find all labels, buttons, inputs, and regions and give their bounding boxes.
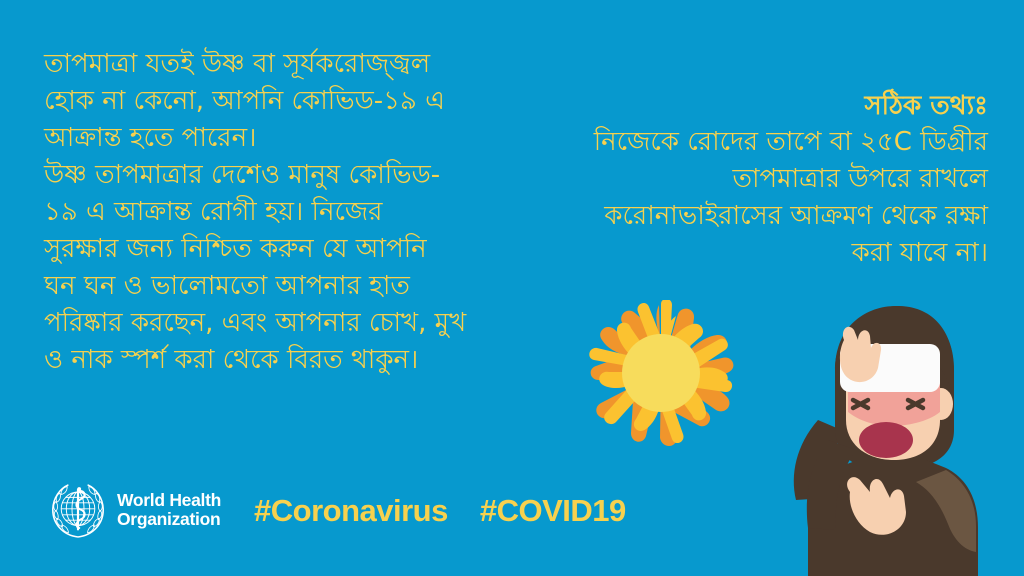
myth-body-text: তাপমাত্রা যতই উষ্ণ বা সূর্যকরোজ্জ্বল হোক… xyxy=(44,46,514,379)
sun-illustration xyxy=(586,300,736,450)
poster-canvas: তাপমাত্রা যতই উষ্ণ বা সূর্যকরোজ্জ্বল হোক… xyxy=(0,0,1024,576)
hashtag-coronavirus: #Coronavirus xyxy=(254,494,448,528)
who-wordmark: World Health Organization xyxy=(117,491,221,529)
who-wordmark-line1: World Health xyxy=(117,491,221,510)
who-emblem-icon xyxy=(48,480,108,540)
fact-body-text: নিজেকে রোদের তাপে বা ২৫C ডিগ্রীর তাপমাত্… xyxy=(518,124,988,272)
fact-heading: সঠিক তথ্যঃ xyxy=(518,88,988,124)
hashtag-covid19: #COVID19 xyxy=(480,494,626,528)
fact-block: সঠিক তথ্যঃ নিজেকে রোদের তাপে বা ২৫C ডিগ্… xyxy=(518,88,988,272)
sick-person-illustration xyxy=(778,300,1008,576)
who-logo: World Health Organization xyxy=(48,478,221,542)
sun-core xyxy=(622,334,700,412)
person-mouth xyxy=(859,422,913,458)
hashtag-group: #Coronavirus #COVID19 xyxy=(254,494,626,528)
who-wordmark-line2: Organization xyxy=(117,510,221,529)
